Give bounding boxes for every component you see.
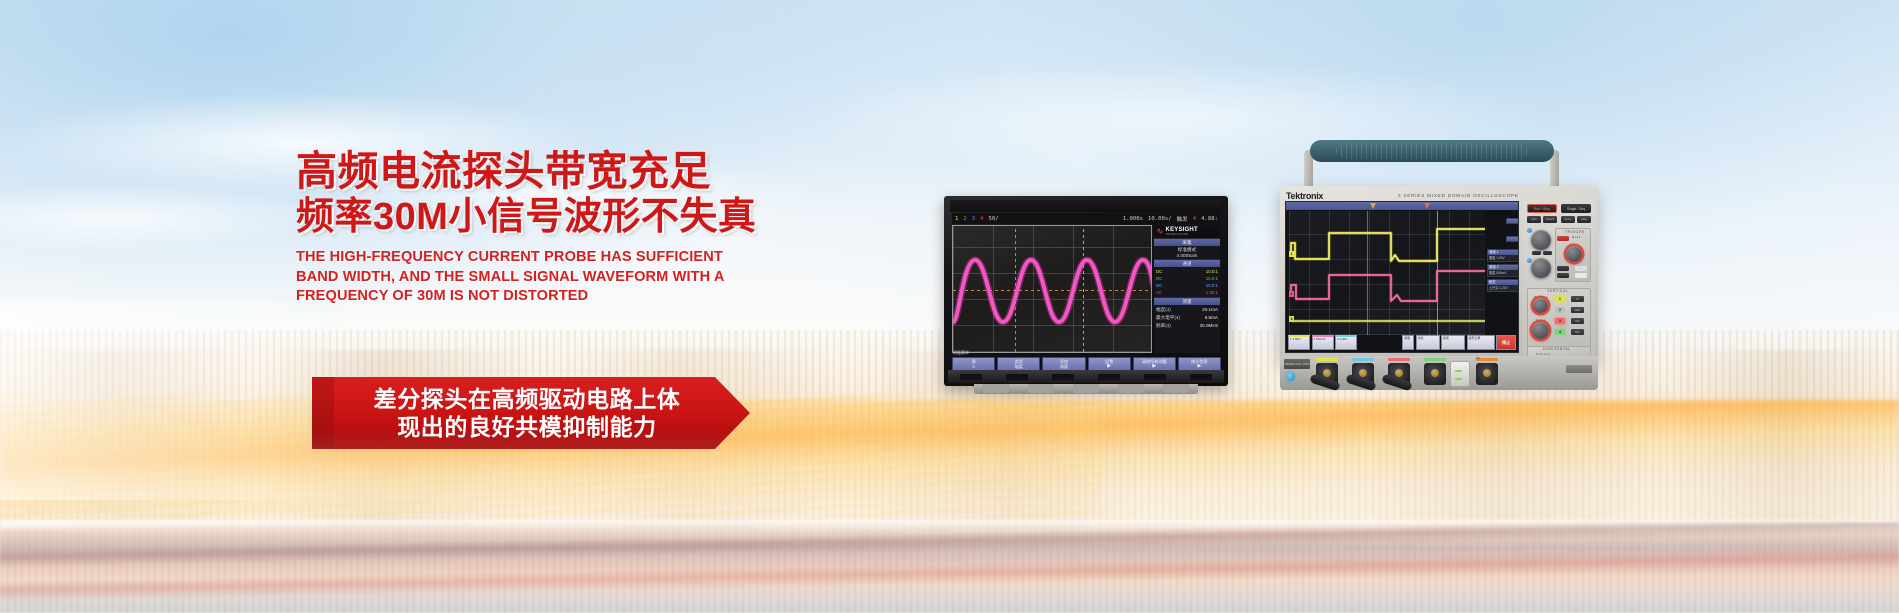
tektronix-channel-1-button[interactable]: 1 xyxy=(1555,296,1565,302)
tektronix-bottom-button-measure[interactable]: 测量 xyxy=(1402,335,1414,350)
keysight-waveform-grid xyxy=(952,225,1152,353)
tektronix-side-card[interactable]: 触发 上升沿 1.20V xyxy=(1487,279,1519,292)
red-arrow-ribbon: 差分探头在高频驱动电路上体 现出的良好共模抑制能力 xyxy=(312,377,750,449)
keysight-ch1-label: 1 xyxy=(955,216,958,222)
keysight-ch-value: 10.0:1 xyxy=(1206,282,1218,289)
keysight-timebase: 1.000s xyxy=(1123,216,1143,222)
keysight-ch-coupling: DC xyxy=(1156,268,1162,275)
tektronix-control-panel: Run / Stop Single / Seq Auto Default For… xyxy=(1523,200,1595,358)
keysight-channels-body: DC 10.0:1 DC 10.0:1 DC 10.0:1 AC 1.00:1 xyxy=(1154,267,1220,297)
tektronix-usb-drive[interactable] xyxy=(1450,361,1470,387)
keysight-top-strip xyxy=(950,200,1222,212)
keysight-logo: ∿ KEYSIGHT TECHNOLOGIES xyxy=(1154,225,1220,238)
tektronix-side-card-body: 上升沿 1.20V xyxy=(1488,285,1518,291)
keysight-acq-rate: 4.000Sa/s xyxy=(1156,253,1218,258)
keysight-channel-row: DC 10.0:1 xyxy=(1156,275,1218,282)
tektronix-rf-connector[interactable] xyxy=(1476,363,1498,385)
keysight-softkey-add-measure[interactable]: 添加 测量 xyxy=(1042,357,1085,371)
keysight-ch-value: 10.0:1 xyxy=(1206,268,1218,275)
tektronix-ref-button[interactable]: Ref xyxy=(1571,318,1584,324)
keysight-info-bar: 1 2 3 4 50/ 1.000s 10.00s/ 触发 4 4.88: xyxy=(952,213,1221,224)
tektronix-knob-a-button[interactable] xyxy=(1532,251,1541,255)
tektronix-clear-button[interactable]: Clear xyxy=(1577,216,1591,223)
keysight-measure-label: 频率(4) xyxy=(1156,322,1171,330)
keysight-ch-coupling: DC xyxy=(1156,282,1162,289)
tektronix-side-card[interactable]: 通道 2 垂直 500mV xyxy=(1487,264,1519,277)
keysight-brand-tagline: TECHNOLOGIES xyxy=(1166,233,1198,236)
keysight-measure-label: 幅度(4) xyxy=(1156,306,1171,314)
tektronix-brand-name: Tektronix xyxy=(1286,191,1323,201)
keysight-trigger-channel: 4 xyxy=(1193,216,1196,222)
tektronix-connector-panel: MDO3K AFG / DVM RF xyxy=(1280,356,1598,390)
keysight-oscilloscope: 1 2 3 4 50/ 1.000s 10.00s/ 触发 4 4.88: ∿ xyxy=(944,196,1228,386)
keysight-foot xyxy=(1118,384,1144,393)
tektronix-bnc-connector-4[interactable] xyxy=(1424,363,1446,385)
tektronix-waveform-plot: 1 2 3 xyxy=(1289,211,1485,335)
tektronix-bottom-button-ch3[interactable]: 3 2.00V xyxy=(1335,335,1357,350)
tektronix-body: Tektronix 3 SERIES MIXED DOMAIN OSCILLOS… xyxy=(1280,186,1598,362)
keysight-measure-value: 30.0MHz xyxy=(1200,323,1218,328)
tektronix-bottom-button-ch1[interactable]: 1 1.00V xyxy=(1288,335,1310,350)
promo-banner: 高频电流探头带宽充足 频率30M小信号波形不失真 THE HIGH-FREQUE… xyxy=(0,0,1899,613)
tektronix-stop-button[interactable]: 停止 xyxy=(1496,335,1516,350)
keysight-vdiv: 50/ xyxy=(989,216,999,222)
keysight-bottom-button-bar xyxy=(948,370,1224,383)
tektronix-ch3-badge: 3 xyxy=(1289,316,1294,322)
tektronix-carry-handle[interactable] xyxy=(1310,140,1554,162)
tektronix-bottom-button-search[interactable]: 搜索 xyxy=(1441,335,1465,350)
keysight-foot xyxy=(1028,384,1054,393)
tektronix-rf-label: RF xyxy=(1476,357,1481,360)
keysight-ch-value: 10.0:1 xyxy=(1206,275,1218,282)
background-road-lines xyxy=(0,522,1899,602)
keysight-channel-row: DC 10.0:1 xyxy=(1156,268,1218,275)
tektronix-bus-button[interactable]: Bus xyxy=(1571,329,1584,335)
tektronix-oscilloscope: Tektronix 3 SERIES MIXED DOMAIN OSCILLOS… xyxy=(1258,140,1598,400)
keysight-sample-rate: 10.00s/ xyxy=(1148,216,1172,222)
keysight-logo-mark: ∿ xyxy=(1156,227,1164,236)
keysight-measure-item: 幅度(4) 20.1mA xyxy=(1156,306,1218,314)
keysight-measure-value: 20.1mA xyxy=(1202,307,1218,312)
tektronix-expansion-slot[interactable] xyxy=(1566,365,1592,373)
tektronix-channel-4-button[interactable]: 4 xyxy=(1555,329,1565,335)
tektronix-ch2-badge: 2 xyxy=(1289,291,1294,297)
keysight-measure-item: 频率(4) 30.0MHz xyxy=(1156,322,1218,330)
tektronix-waveforms xyxy=(1289,211,1485,335)
tektronix-vertical-scale-knob[interactable] xyxy=(1532,322,1549,339)
tektronix-knob-b-button[interactable] xyxy=(1543,251,1552,255)
tektronix-bnc4-color-label xyxy=(1424,358,1446,361)
tektronix-single-seq-button[interactable]: Single / Seq xyxy=(1561,204,1591,213)
tektronix-trigger-label: TRIGGER xyxy=(1565,230,1585,234)
softkey-label-bottom: 4 xyxy=(972,364,974,369)
keysight-foot xyxy=(1163,384,1189,393)
keysight-front-button[interactable] xyxy=(960,374,982,380)
keysight-sine-waveform xyxy=(953,226,1152,353)
tektronix-m-button[interactable]: M xyxy=(1571,296,1584,302)
ribbon-line-1: 差分探头在高频驱动电路上体 xyxy=(342,385,712,413)
keysight-ch2-label: 2 xyxy=(963,216,966,222)
keysight-measure-label: 最大电平(4) xyxy=(1156,314,1180,322)
tektronix-force-trig-button[interactable]: Force xyxy=(1561,216,1575,223)
keysight-ch-value: 1.00:1 xyxy=(1206,289,1218,296)
tektronix-power-led[interactable] xyxy=(1286,372,1295,381)
tektronix-side-card-body: 垂直 500mV xyxy=(1488,270,1518,276)
tektronix-channel-3-button[interactable]: 3 xyxy=(1555,318,1565,324)
tektronix-screen[interactable]: 1 2 3 通道 1 垂直 1.00V 通道 2 垂直 500m xyxy=(1285,201,1519,353)
tektronix-side-menu: 通道 1 垂直 1.00V 通道 2 垂直 500mV 触发 上升沿 1.20V xyxy=(1487,211,1519,335)
tektronix-autoset-button[interactable]: Auto xyxy=(1527,216,1541,223)
tektronix-bottom-menu: 1 1.00V 2 500mV 3 2.00V 测量 光标 搜索 波形记录 停止 xyxy=(1288,335,1516,350)
tektronix-trigger-extra-button[interactable] xyxy=(1557,273,1569,278)
tektronix-math-button[interactable]: Math xyxy=(1571,307,1584,313)
keysight-channels-header: 通道 xyxy=(1154,259,1220,267)
keysight-ch-coupling: DC xyxy=(1156,275,1162,282)
keysight-channel-row: DC 10.0:1 xyxy=(1156,282,1218,289)
keysight-measure-body: 幅度(4) 20.1mA 最大电平(4) 9.8mA 频率(4) 30.0MHz xyxy=(1154,305,1220,331)
tektronix-bottom-button-ch2[interactable]: 2 500mV xyxy=(1312,335,1334,350)
tektronix-trigger-extra-button-2[interactable] xyxy=(1575,273,1587,278)
keysight-foot xyxy=(983,384,1009,393)
keysight-measure-value: 9.8mA xyxy=(1205,315,1218,320)
keysight-front-button[interactable] xyxy=(1144,374,1166,380)
tektronix-model-label: 3 SERIES MIXED DOMAIN OSCILLOSCOPE xyxy=(1398,193,1519,198)
keysight-side-panel: ∿ KEYSIGHT TECHNOLOGIES 采集 标准模式 4.000Sa/… xyxy=(1154,225,1220,353)
softkey-label-bottom: 测量 xyxy=(1060,364,1068,369)
bnc-pin-icon xyxy=(1483,369,1491,377)
tektronix-side-card[interactable]: 通道 1 垂直 1.00V xyxy=(1487,249,1519,262)
keysight-front-button[interactable] xyxy=(1006,374,1028,380)
tektronix-trigger-slope-icon[interactable]: ⌐ xyxy=(1575,266,1587,271)
bnc-pin-icon xyxy=(1323,369,1331,377)
tektronix-channel-2-button[interactable]: 2 xyxy=(1555,307,1565,313)
keysight-front-button[interactable] xyxy=(1098,374,1120,380)
keysight-acq-body: 标准模式 4.000Sa/s xyxy=(1154,246,1220,259)
usb-led-icon xyxy=(1455,370,1462,372)
tektronix-trigger-mode-label: Mode xyxy=(1572,236,1581,239)
keysight-ch3-label: 3 xyxy=(972,216,975,222)
keysight-ch4-label: 4 xyxy=(980,216,983,222)
keysight-ch-coupling: AC xyxy=(1156,289,1162,296)
bnc-pin-icon xyxy=(1431,369,1439,377)
tektronix-bnc3-color-label xyxy=(1388,358,1410,361)
keysight-stand xyxy=(974,384,1198,394)
keysight-softkey-source[interactable]: 源 4 xyxy=(952,357,995,371)
keysight-measure-item: 最大电平(4) 9.8mA xyxy=(1156,314,1218,322)
softkey-label-bottom: 幅度 xyxy=(1015,364,1023,369)
headline-line-1: 高频电流探头带宽充足 xyxy=(296,148,766,194)
tektronix-trigger-level-knob[interactable] xyxy=(1566,246,1582,262)
tektronix-trigger-marker-icon xyxy=(1370,203,1376,209)
headline-block: 高频电流探头带宽充足 频率30M小信号波形不失真 THE HIGH-FREQUE… xyxy=(296,148,766,307)
tektronix-top-status-bar xyxy=(1286,202,1518,210)
keysight-trigger-mode: 触发 xyxy=(1177,215,1188,223)
tektronix-horizontal-label: HORIZONTAL xyxy=(1543,347,1571,351)
keysight-softkey-statistics[interactable]: 统计信息 ▶ xyxy=(1178,357,1221,371)
tektronix-vertical-label: VERTICAL xyxy=(1547,289,1568,293)
tektronix-run-stop-button[interactable]: Run / Stop xyxy=(1527,204,1557,213)
keysight-softkey-clear-all[interactable]: 清除所有测量 ▶ xyxy=(1133,357,1176,371)
tektronix-side-button[interactable] xyxy=(1506,218,1519,224)
tektronix-trigger-menu-button[interactable] xyxy=(1557,236,1569,241)
bnc-pin-icon xyxy=(1395,369,1403,377)
ribbon-line-2: 现出的良好共模抑制能力 xyxy=(342,413,712,441)
keysight-channel-row: AC 1.00:1 xyxy=(1156,289,1218,296)
tektronix-reference-marker-icon xyxy=(1424,203,1430,209)
tektronix-side-card-body: 垂直 1.00V xyxy=(1488,255,1518,261)
tektronix-default-button[interactable]: Default xyxy=(1543,216,1557,223)
tektronix-multipurpose-knob-a[interactable] xyxy=(1531,230,1551,250)
keysight-foot xyxy=(1073,384,1099,393)
tektronix-bottom-button-cursor[interactable]: 光标 xyxy=(1416,335,1440,350)
keysight-measure-header: 测量 xyxy=(1154,297,1220,305)
bnc-pin-icon xyxy=(1359,369,1367,377)
keysight-front-button[interactable] xyxy=(1052,374,1074,380)
tektronix-bnc2-color-label xyxy=(1352,358,1374,361)
tektronix-vertical-position-knob[interactable] xyxy=(1533,298,1548,313)
tektronix-handle-grip xyxy=(1336,143,1528,159)
softkey-arrow-icon: ▶ xyxy=(1198,364,1202,369)
ribbon-left-tab xyxy=(312,377,334,449)
tektronix-trigger-force-button[interactable] xyxy=(1557,266,1569,271)
tektronix-bnc1-color-label xyxy=(1316,358,1338,361)
headline-line-2: 频率30M小信号波形不失真 xyxy=(296,195,766,239)
keysight-acq-header: 采集 xyxy=(1154,238,1220,246)
keysight-softkey-settings[interactable]: 设置 ▶ xyxy=(1088,357,1131,371)
softkey-arrow-icon: ▶ xyxy=(1152,364,1156,369)
keysight-softkey-type[interactable]: 类型 幅度 xyxy=(997,357,1040,371)
usb-led-icon xyxy=(1455,378,1462,380)
tektronix-module-label: MDO3K AFG / DVM xyxy=(1284,359,1310,369)
softkey-arrow-icon: ▶ xyxy=(1107,364,1111,369)
tektronix-ch1-badge: 1 xyxy=(1289,251,1294,257)
keysight-trigger-level: 4.88: xyxy=(1201,216,1218,222)
keysight-front-button[interactable] xyxy=(1190,374,1212,380)
tektronix-bottom-button-record[interactable]: 波形记录 xyxy=(1467,335,1495,350)
tektronix-multipurpose-knob-b[interactable] xyxy=(1531,258,1551,278)
ribbon-text: 差分探头在高频驱动电路上体 现出的良好共模抑制能力 xyxy=(342,385,712,441)
subcopy-english: THE HIGH-FREQUENCY CURRENT PROBE HAS SUF… xyxy=(296,248,754,307)
tektronix-side-button[interactable] xyxy=(1506,236,1519,242)
tektronix-indicator-led xyxy=(1527,228,1532,233)
